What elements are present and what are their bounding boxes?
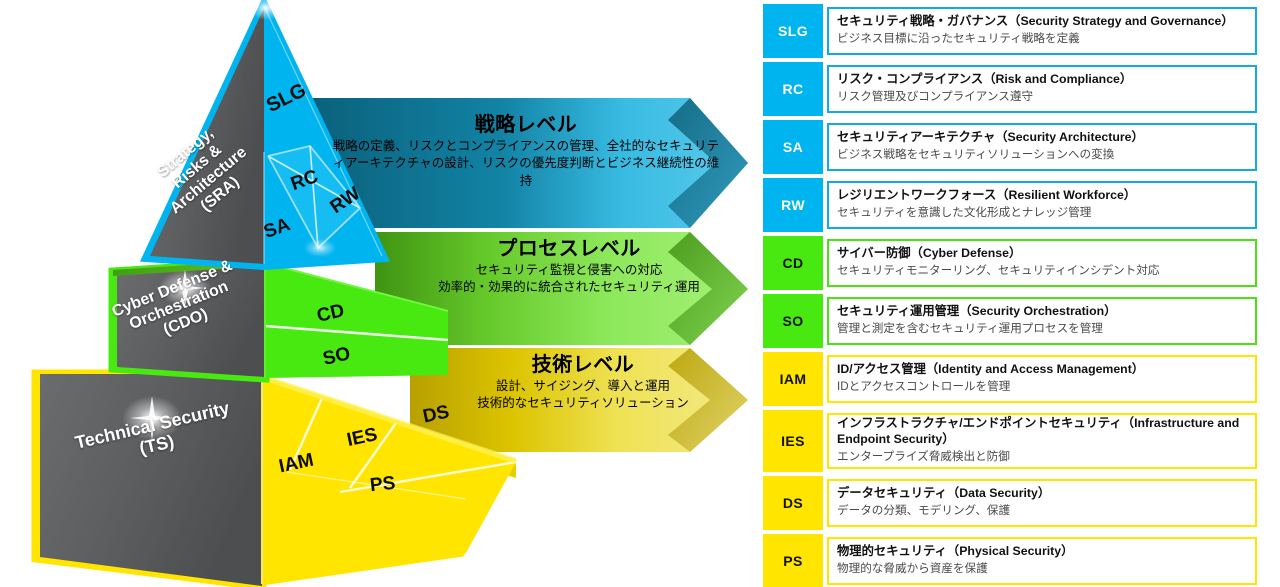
legend-sub-sa: ビジネス戦略をセキュリティソリューションへの変換	[837, 147, 1247, 162]
legend-row-slg[interactable]: SLGセキュリティ戦略・ガバナンス（Security Strategy and …	[763, 4, 1260, 58]
legend-code-rw: RW	[763, 178, 823, 232]
legend-title-cd: サイバー防御（Cyber Defense）	[837, 246, 1247, 262]
legend-code-ds: DS	[763, 476, 823, 530]
legend-row-ps[interactable]: PS物理的セキュリティ（Physical Security）物理的な脅威から資産…	[763, 534, 1260, 587]
legend-body-rw: レジリエントワークフォース（Resilient Workforce）セキュリティ…	[827, 181, 1257, 229]
legend-body-slg: セキュリティ戦略・ガバナンス（Security Strategy and Gov…	[827, 7, 1257, 55]
legend-sub-rc: リスク管理及びコンプライアンス遵守	[837, 89, 1247, 104]
legend-title-ies: インフラストラクチャ/エンドポイントセキュリティ（Infrastructure …	[837, 416, 1247, 448]
legend-body-ies: インフラストラクチャ/エンドポイントセキュリティ（Infrastructure …	[827, 413, 1257, 469]
legend-body-cd: サイバー防御（Cyber Defense）セキュリティモニターリング、セキュリテ…	[827, 239, 1257, 287]
legend-code-iam: IAM	[763, 352, 823, 406]
legend-body-sa: セキュリティアーキテクチャ（Security Architecture）ビジネス…	[827, 123, 1257, 171]
pyramid-graphic	[0, 0, 760, 587]
legend-code-so: SO	[763, 294, 823, 348]
legend-code-slg: SLG	[763, 4, 823, 58]
legend-body-so: セキュリティ運用管理（Security Orchestration）管理と測定を…	[827, 297, 1257, 345]
legend-sub-ps: 物理的な脅威から資産を保護	[837, 561, 1247, 576]
legend-code-ps: PS	[763, 534, 823, 587]
legend-code-cd: CD	[763, 236, 823, 290]
banner-arrow-tech	[410, 348, 748, 452]
legend-code-rc: RC	[763, 62, 823, 116]
legend-row-iam[interactable]: IAMID/アクセス管理（Identity and Access Managem…	[763, 352, 1260, 406]
legend-title-rc: リスク・コンプライアンス（Risk and Compliance）	[837, 72, 1247, 88]
legend-title-so: セキュリティ運用管理（Security Orchestration）	[837, 304, 1247, 320]
legend-row-cd[interactable]: CDサイバー防御（Cyber Defense）セキュリティモニターリング、セキュ…	[763, 236, 1260, 290]
legend-title-sa: セキュリティアーキテクチャ（Security Architecture）	[837, 130, 1247, 146]
legend-row-rw[interactable]: RWレジリエントワークフォース（Resilient Workforce）セキュリ…	[763, 178, 1260, 232]
legend-body-ds: データセキュリティ（Data Security）データの分類、モデリング、保護	[827, 479, 1257, 527]
legend-body-ps: 物理的セキュリティ（Physical Security）物理的な脅威から資産を保…	[827, 537, 1257, 585]
legend-list: SLGセキュリティ戦略・ガバナンス（Security Strategy and …	[763, 4, 1260, 587]
legend-title-iam: ID/アクセス管理（Identity and Access Management…	[837, 362, 1247, 378]
banner-arrow-strategy	[300, 98, 748, 228]
legend-body-rc: リスク・コンプライアンス（Risk and Compliance）リスク管理及び…	[827, 65, 1257, 113]
legend-sub-ies: エンタープライズ脅威検出と防御	[837, 449, 1247, 464]
legend-body-iam: ID/アクセス管理（Identity and Access Management…	[827, 355, 1257, 403]
legend-sub-slg: ビジネス目標に沿ったセキュリティ戦略を定義	[837, 31, 1247, 46]
diagram-canvas: Strategy, Risks & Architecture (SRA) Cyb…	[0, 0, 1280, 587]
legend-code-sa: SA	[763, 120, 823, 174]
legend-sub-iam: IDとアクセスコントロールを管理	[837, 379, 1247, 394]
legend-sub-ds: データの分類、モデリング、保護	[837, 503, 1247, 518]
legend-title-ds: データセキュリティ（Data Security）	[837, 486, 1247, 502]
legend-code-ies: IES	[763, 410, 823, 472]
legend-row-ies[interactable]: IESインフラストラクチャ/エンドポイントセキュリティ（Infrastructu…	[763, 410, 1260, 472]
legend-row-rc[interactable]: RCリスク・コンプライアンス（Risk and Compliance）リスク管理…	[763, 62, 1260, 116]
legend-sub-rw: セキュリティを意識した文化形成とナレッジ管理	[837, 205, 1247, 220]
legend-row-sa[interactable]: SAセキュリティアーキテクチャ（Security Architecture）ビジ…	[763, 120, 1260, 174]
legend-row-so[interactable]: SOセキュリティ運用管理（Security Orchestration）管理と測…	[763, 294, 1260, 348]
legend-row-ds[interactable]: DSデータセキュリティ（Data Security）データの分類、モデリング、保…	[763, 476, 1260, 530]
legend-sub-cd: セキュリティモニターリング、セキュリティインシデント対応	[837, 263, 1247, 278]
legend-title-ps: 物理的セキュリティ（Physical Security）	[837, 544, 1247, 560]
legend-title-slg: セキュリティ戦略・ガバナンス（Security Strategy and Gov…	[837, 14, 1247, 30]
legend-title-rw: レジリエントワークフォース（Resilient Workforce）	[837, 188, 1247, 204]
legend-sub-so: 管理と測定を含むセキュリティ運用プロセスを管理	[837, 321, 1247, 336]
